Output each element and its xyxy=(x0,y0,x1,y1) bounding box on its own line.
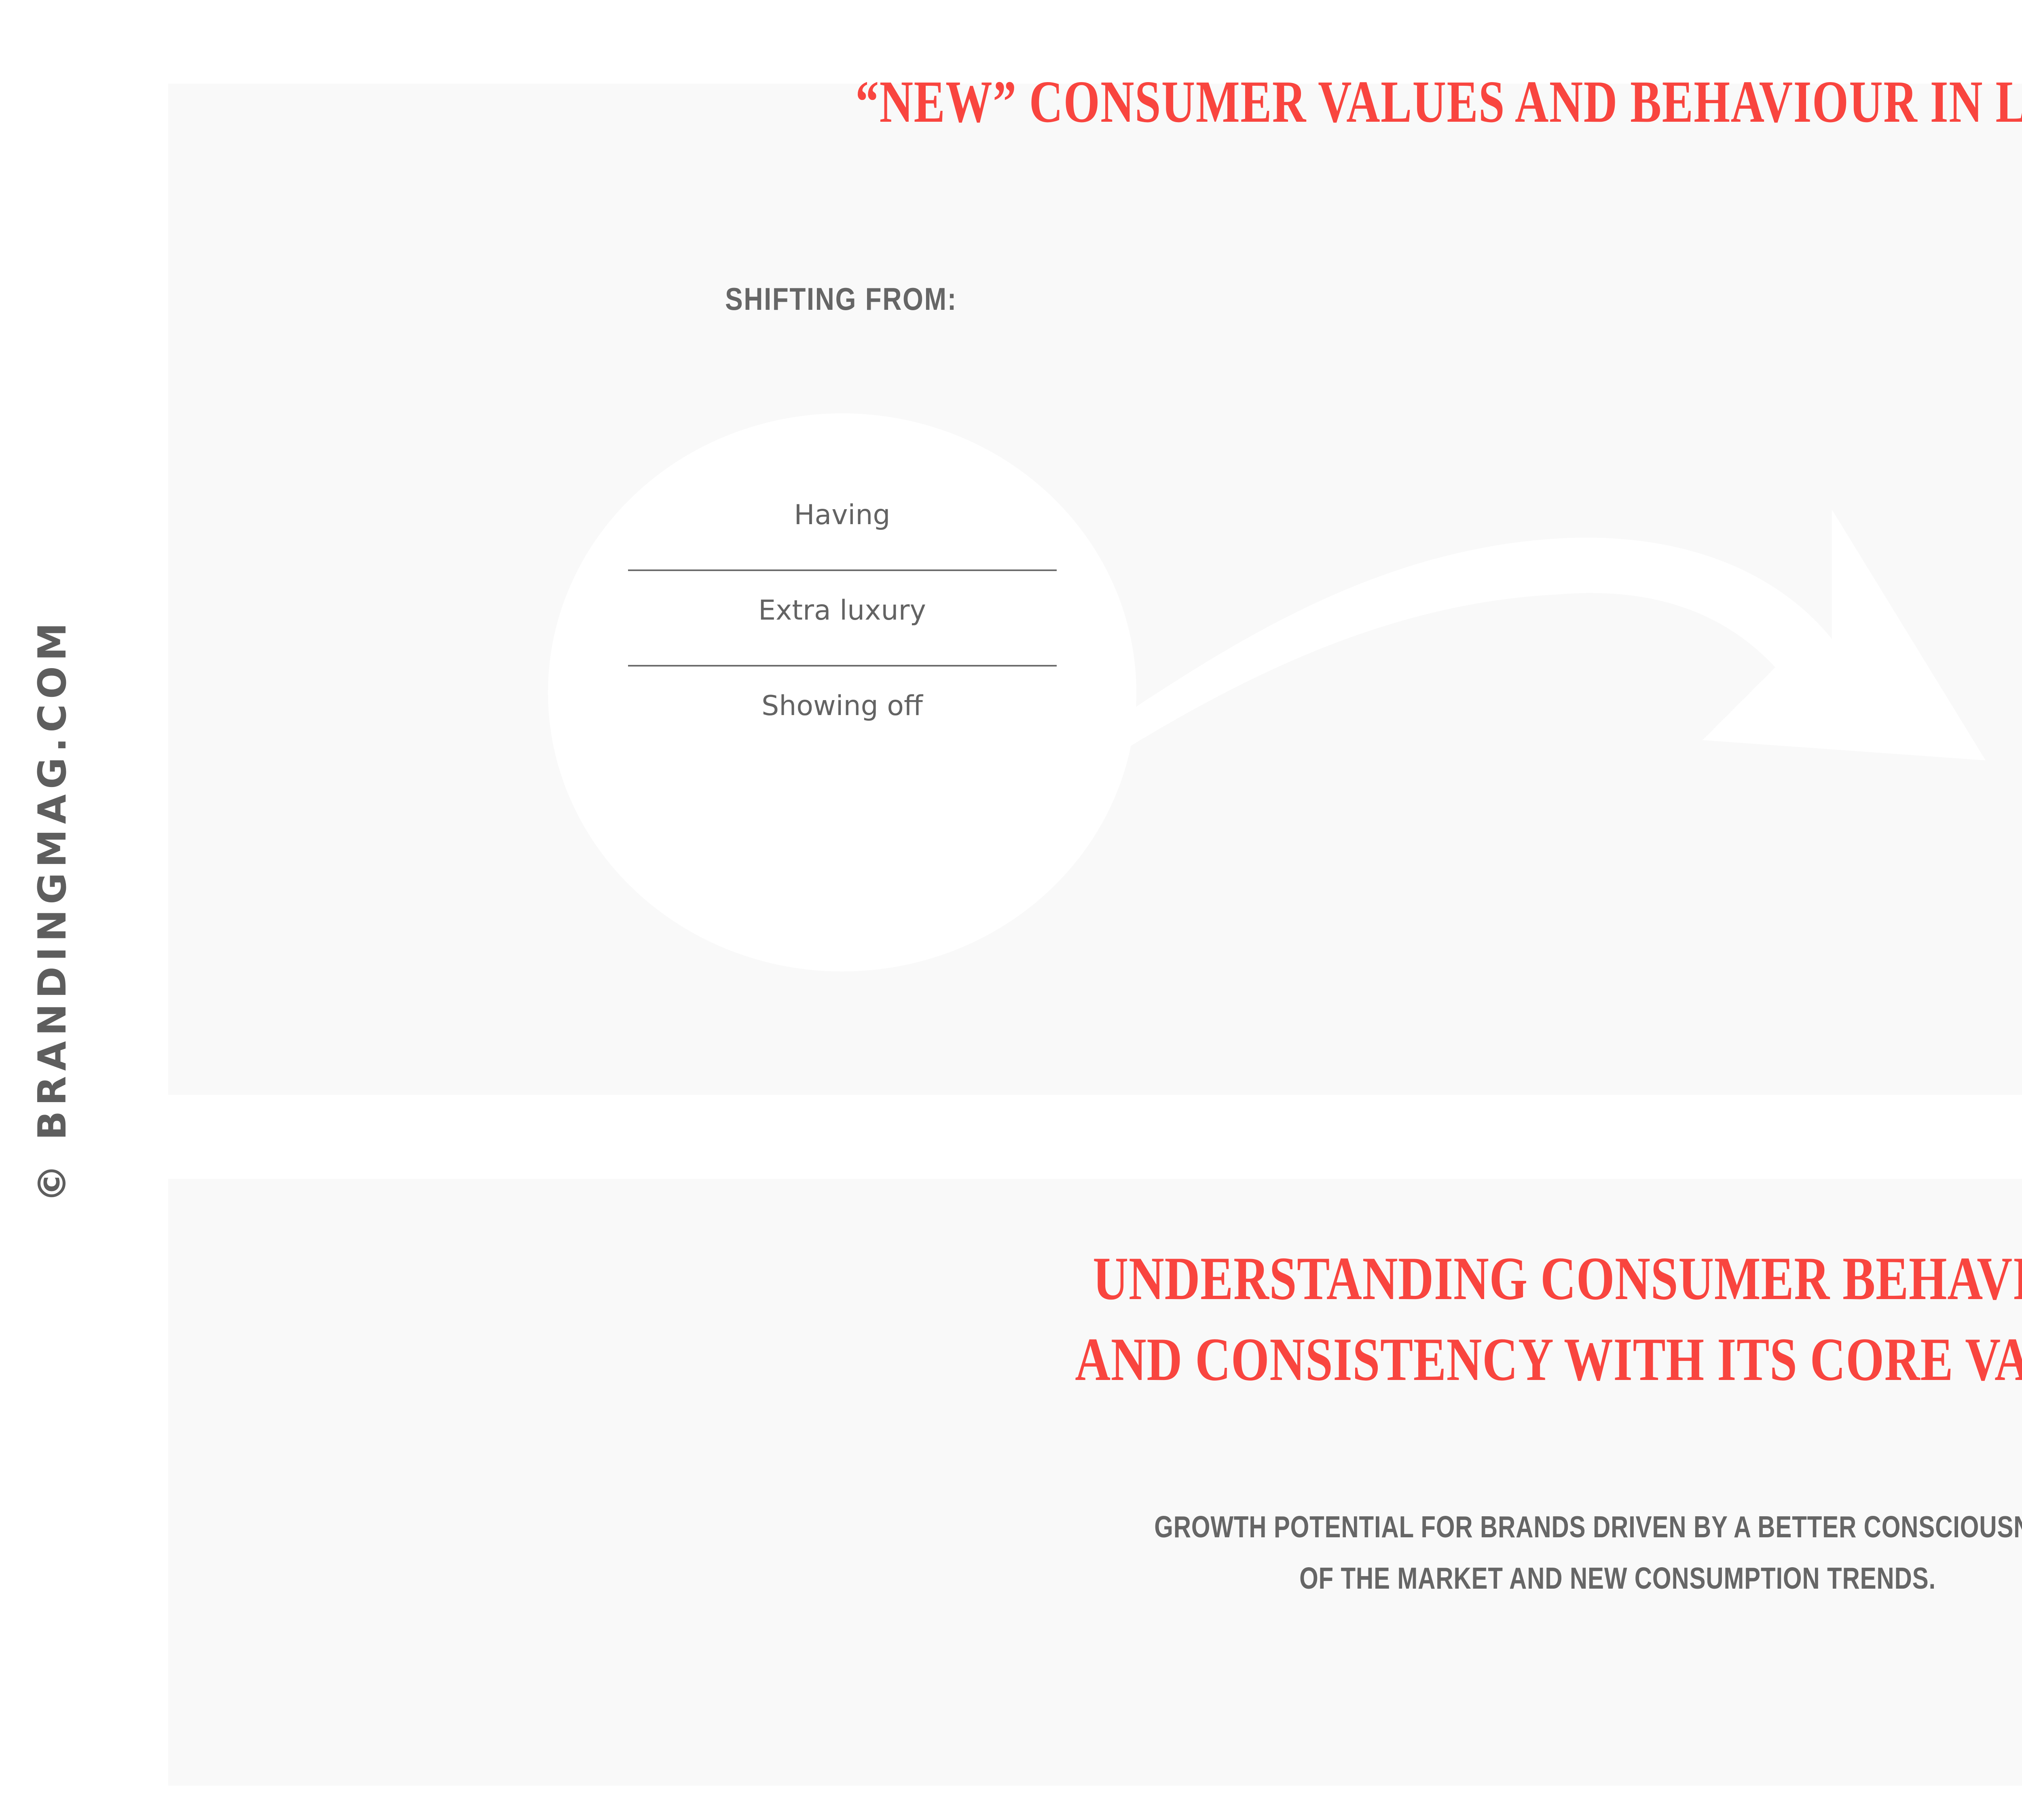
from-circle: Having Extra luxury Showing off xyxy=(548,413,1136,971)
bottom-subtext-line-1: GROWTH POTENTIAL FOR BRANDS DRIVEN BY A … xyxy=(324,1512,2022,1542)
from-item-1: Extra luxury xyxy=(758,595,926,627)
bottom-subtext-line-2: OF THE MARKET AND NEW CONSUMPTION TRENDS… xyxy=(324,1563,2022,1594)
from-item-row: Showing off xyxy=(628,690,1057,741)
from-item-row: Extra luxury xyxy=(628,595,1057,645)
divider xyxy=(628,569,1057,571)
divider xyxy=(628,665,1057,667)
from-item-row: Having xyxy=(628,499,1057,550)
from-item-0: Having xyxy=(794,499,890,531)
from-circle-content: Having Extra luxury Showing off xyxy=(628,499,1057,741)
bottom-headline-line-2: AND CONSISTENCY WITH ITS CORE VALUES xyxy=(324,1329,2022,1390)
watermark-text: © BRANDINGMAG.COM xyxy=(30,618,75,1203)
transition-arrow-icon xyxy=(1092,477,2022,760)
from-item-2: Showing off xyxy=(761,690,923,722)
watermark: © BRANDINGMAG.COM xyxy=(0,0,105,1820)
shifting-from-label: SHIFTING FROM: xyxy=(552,283,1130,315)
page-title: “NEW” CONSUMER VALUES AND BEHAVIOUR IN L… xyxy=(356,72,2022,132)
bottom-headline-line-1: UNDERSTANDING CONSUMER BEHAVIOUR xyxy=(324,1248,2022,1309)
